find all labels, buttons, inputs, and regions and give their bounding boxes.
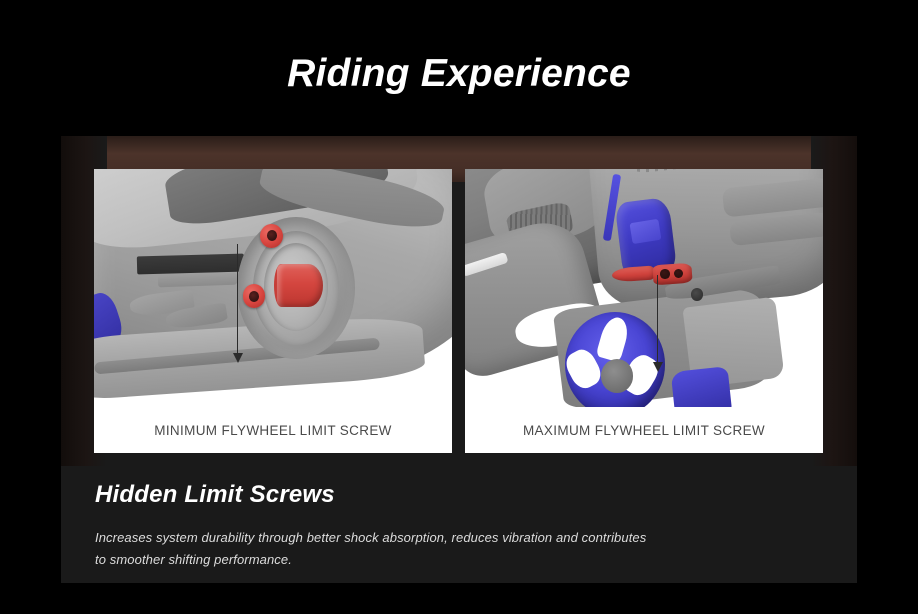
feature-body-text: Increases system durability through bett… <box>95 527 655 571</box>
body-slot-light <box>158 272 237 287</box>
limit-screw-upper-icon <box>260 224 283 248</box>
page-root: Riding Experience <box>0 0 918 614</box>
feature-heading: Hidden Limit Screws <box>95 481 335 509</box>
limit-screw-hole-a <box>660 269 669 279</box>
body-slot-dark <box>137 253 245 274</box>
callout-arrow-minimum <box>237 244 238 354</box>
panel-minimum-flywheel-limit-screw[interactable]: MINIMUM FLYWHEEL LIMIT SCREW <box>94 169 452 453</box>
panel-caption-maximum: MAXIMUM FLYWHEEL LIMIT SCREW <box>465 407 823 453</box>
red-center-plug <box>277 264 324 307</box>
panel-maximum-flywheel-limit-screw[interactable]: MAXIMUM FLYWHEEL LIMIT SCREW <box>465 169 823 453</box>
image-panel-row: MINIMUM FLYWHEEL LIMIT SCREW <box>94 169 823 453</box>
derailleur-render-minimum <box>94 169 452 407</box>
blue-accent-lower-right <box>670 366 732 407</box>
page-title: Riding Experience <box>0 50 918 98</box>
derailleur-render-maximum <box>465 169 823 407</box>
callout-arrow-maximum <box>657 275 658 363</box>
feature-card: MINIMUM FLYWHEEL LIMIT SCREW <box>61 136 857 583</box>
red-limit-screw-block <box>652 263 693 286</box>
jockey-wheel-hub <box>601 359 633 392</box>
panel-caption-minimum: MINIMUM FLYWHEEL LIMIT SCREW <box>94 407 452 453</box>
